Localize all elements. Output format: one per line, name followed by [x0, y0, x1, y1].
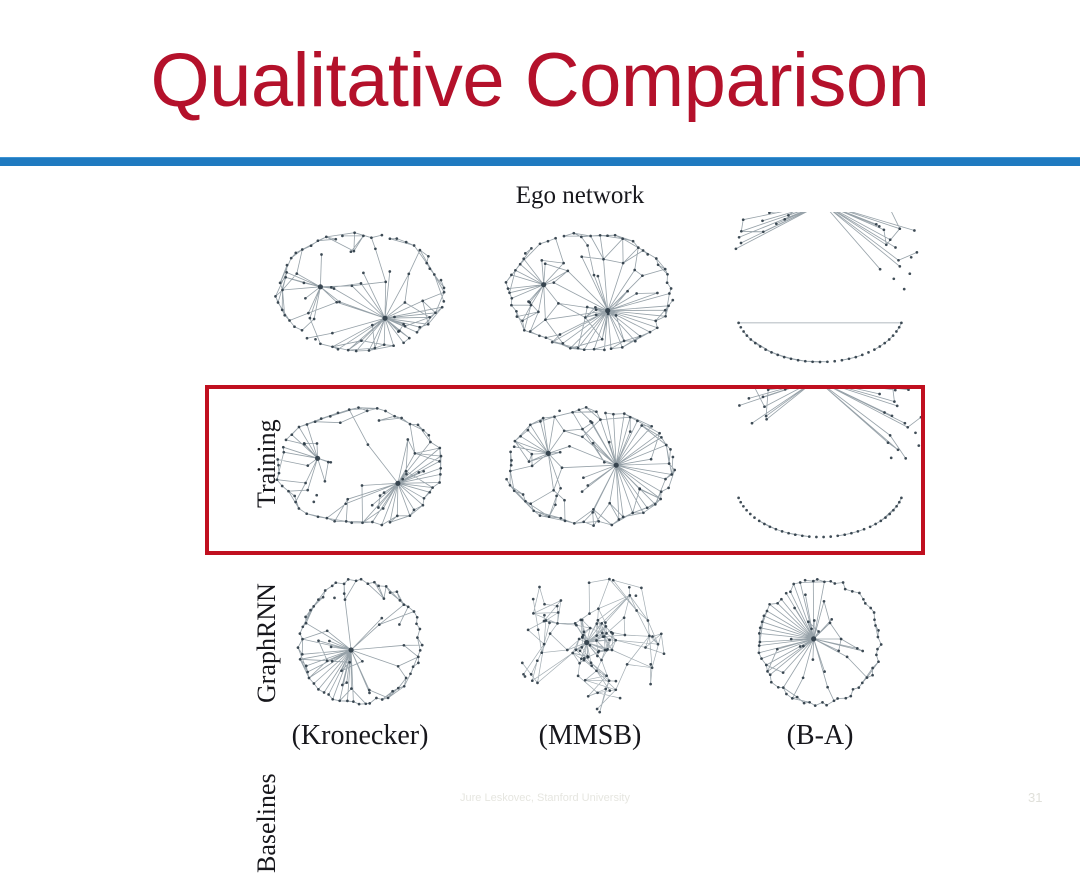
graph-cell-graphrnn-mmsb	[485, 387, 695, 547]
network-graph	[255, 387, 465, 547]
graph-cell-graphrnn-kronecker	[255, 387, 465, 547]
graph-cell-baselines-kronecker	[255, 562, 465, 722]
footer-attribution: Jure Leskovec, Stanford University	[460, 792, 630, 804]
graph-row-training	[255, 212, 925, 372]
network-graph	[715, 562, 925, 722]
figure-top-caption: Ego network	[340, 182, 820, 210]
column-caption-ba: (B-A)	[715, 720, 925, 764]
column-captions: (Kronecker) (MMSB) (B-A)	[255, 720, 925, 764]
column-caption-mmsb: (MMSB)	[485, 720, 695, 764]
graph-row-baselines	[255, 562, 925, 722]
graph-grid	[255, 212, 925, 722]
network-graph	[485, 387, 695, 547]
row-label-baselines: Baselines	[252, 773, 282, 873]
graph-cell-graphrnn-ba	[715, 387, 925, 547]
title-divider-rule	[0, 157, 1080, 166]
graph-cell-training-ba	[715, 212, 925, 372]
graph-cell-training-mmsb	[485, 212, 695, 372]
footer-page-number: 31	[1028, 790, 1042, 805]
graph-cell-baselines-ba	[715, 562, 925, 722]
network-graph	[255, 212, 465, 372]
network-graph	[485, 562, 695, 722]
page-title: Qualitative Comparison	[0, 38, 1080, 124]
graph-row-graphrnn	[255, 387, 925, 547]
qualitative-comparison-figure: Ego network Training GraphRNN Baselines …	[0, 168, 1080, 778]
network-graph	[485, 212, 695, 372]
graph-cell-training-kronecker	[255, 212, 465, 372]
column-caption-kronecker: (Kronecker)	[255, 720, 465, 764]
network-graph	[715, 387, 925, 547]
network-graph	[715, 212, 925, 372]
network-graph	[255, 562, 465, 722]
graph-cell-baselines-mmsb	[485, 562, 695, 722]
